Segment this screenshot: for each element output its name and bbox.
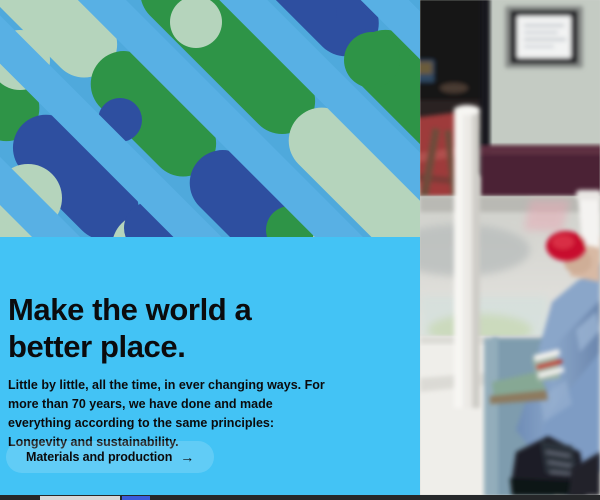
headline-line-2: better place. xyxy=(8,329,185,364)
cafe-photo xyxy=(420,0,600,495)
window-edge-strip xyxy=(0,495,600,500)
window-edge-accent xyxy=(122,496,150,500)
arrow-right-icon: → xyxy=(180,450,194,464)
left-column: Make the world abetter place. Little by … xyxy=(0,0,420,495)
window-edge-tab xyxy=(40,496,120,500)
page-root: Make the world abetter place. Little by … xyxy=(0,0,600,500)
cta-label: Materials and production xyxy=(26,450,172,464)
page-title: Make the world abetter place. xyxy=(8,291,408,365)
hero-text-panel: Make the world abetter place. Little by … xyxy=(0,237,420,495)
headline-line-1: Make the world a xyxy=(8,292,251,327)
abstract-diagonal-pattern xyxy=(0,0,420,237)
materials-and-production-button[interactable]: Materials and production → xyxy=(6,441,214,473)
